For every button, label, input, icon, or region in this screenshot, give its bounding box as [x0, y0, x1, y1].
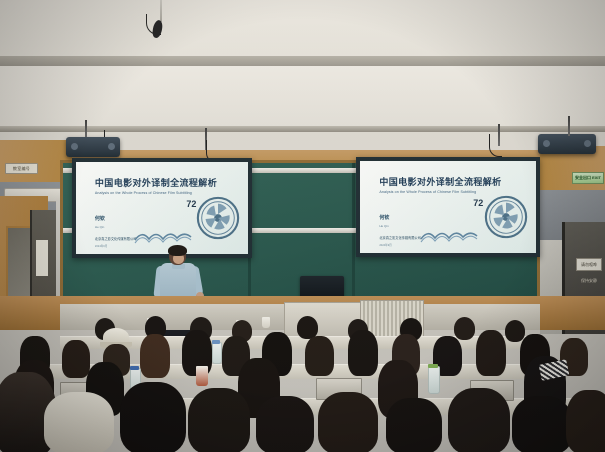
slide-date-left: 2024年9月	[95, 244, 107, 248]
projector-3	[538, 134, 596, 154]
water-bottle-1	[212, 342, 222, 364]
bottle-cap-3	[428, 364, 438, 368]
audience-head-36	[512, 396, 572, 452]
ceiling	[0, 0, 605, 58]
slide-title-zh-right: 中国电影对外译制全流程解析	[379, 175, 501, 188]
audience-head-37	[566, 390, 605, 452]
bottle-cap-1	[212, 340, 220, 344]
slide-speaker-en-right: He Qin	[379, 224, 388, 228]
left-wall-sign: 教室编号	[5, 163, 38, 174]
projector-cable-3	[489, 134, 502, 157]
audience-head-33	[318, 392, 378, 452]
slide-speaker-en-left: He Qin	[95, 225, 104, 229]
slide-title-zh-left: 中国电影对外译制全流程解析	[95, 176, 217, 189]
slide-left: 中国电影对外译制全流程解析 Analysis on the Whole Proc…	[76, 162, 248, 254]
audience-head-32	[256, 396, 314, 452]
exit-sign: 安全出口 EXIT	[572, 172, 604, 184]
projection-screen-left: 中国电影对外译制全流程解析 Analysis on the Whole Proc…	[72, 158, 252, 258]
audience-head-18	[348, 330, 378, 376]
audience-head-21	[476, 330, 506, 376]
projector-pole-4	[568, 116, 570, 136]
bottle-cap-2	[130, 366, 139, 370]
audience-head-35	[448, 388, 510, 452]
audience-head-9	[505, 320, 525, 342]
slide-right: 中国电影对外译制全流程解析 Analysis on the Whole Proc…	[360, 161, 536, 253]
audience-head-31	[188, 388, 250, 452]
slide-number-right: 72	[473, 198, 483, 208]
left-door-notice	[36, 240, 48, 276]
audience-head-13	[140, 334, 170, 378]
ceiling-beam	[0, 56, 605, 66]
film-reel-icon-left	[195, 195, 241, 241]
slide-organization-right: 北京真之影文化传媒有限公司	[379, 235, 420, 240]
slide-subtitle-en-right: Analysis on the Whole Process of Chinese…	[379, 190, 476, 194]
film-strip-icon-right	[420, 227, 478, 243]
slide-subtitle-en-left: Analysis on the Whole Process of Chinese…	[95, 191, 192, 195]
right-door-notice: 请勿喧哗	[576, 258, 602, 271]
drink-cup	[196, 366, 208, 386]
audience-head-34	[386, 398, 442, 452]
audience-head-30	[120, 382, 186, 452]
projection-screen-right: 中国电影对外译制全流程解析 Analysis on the Whole Proc…	[356, 157, 540, 257]
audience-back-1	[44, 392, 114, 452]
audience-head-17	[305, 336, 334, 376]
water-bottle-3	[428, 366, 440, 394]
upper-wall	[0, 66, 605, 128]
projector-1	[66, 137, 120, 157]
right-door-notice-sub: 保持安静	[578, 278, 600, 284]
slide-speaker-zh-right: 何钦	[379, 214, 389, 221]
slide-organization-left: 北京真之影文化传媒有限公司	[95, 236, 136, 241]
front-cup-3	[262, 317, 270, 328]
audience-head-8	[454, 317, 475, 340]
slide-date-right: 2024年9月	[379, 243, 391, 247]
speaker-hair	[168, 245, 187, 256]
slide-speaker-zh-left: 何钦	[95, 215, 105, 222]
film-strip-icon-left	[134, 228, 192, 244]
audience-head-11	[62, 340, 90, 378]
projector-pole-1	[85, 120, 87, 138]
lecture-hall-photo: 教室编号 安全出口 EXIT 请勿喧哗 保持安静 中国电影对外译制全流程解析 A…	[0, 0, 605, 452]
film-reel-icon-right	[483, 194, 529, 240]
